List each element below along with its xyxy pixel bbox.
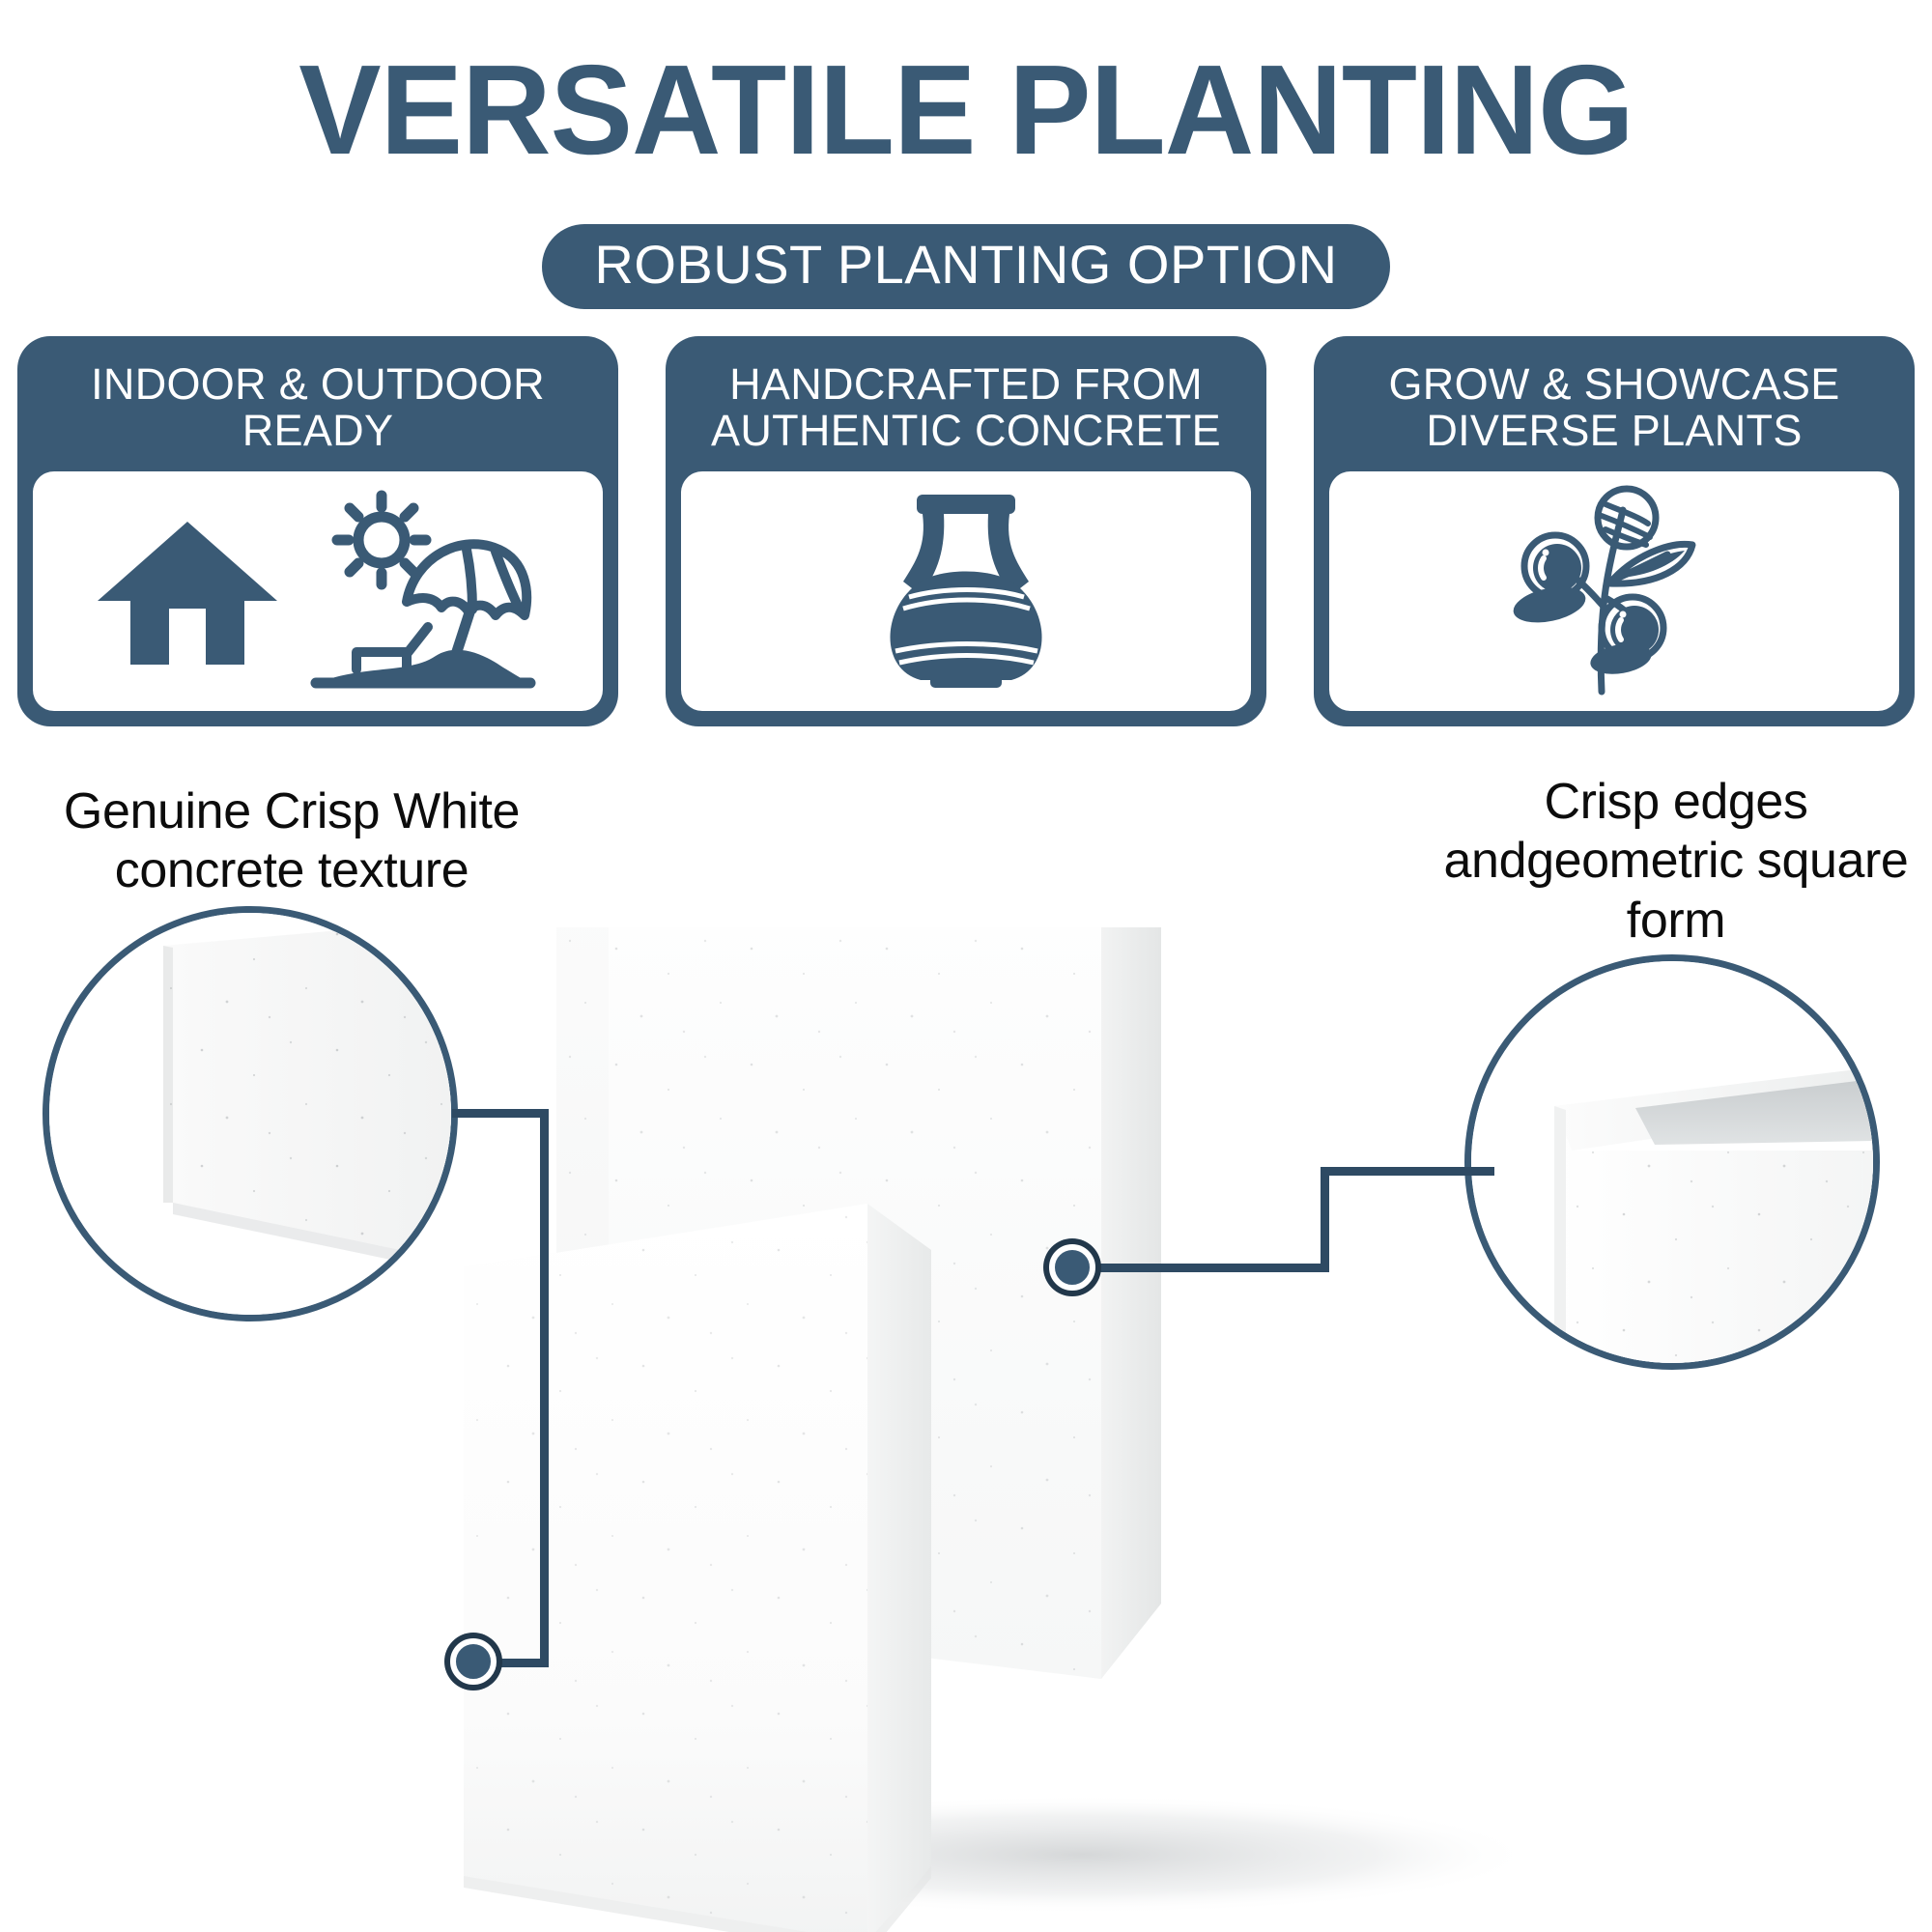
connector-left-segment-vertical xyxy=(540,1109,549,1667)
connector-right-segment-top xyxy=(1321,1167,1494,1176)
feature-card-row: INDOOR & OUTDOOR READY xyxy=(17,336,1915,726)
connector-right-segment-bottom xyxy=(1070,1264,1329,1272)
callout-label-left: Genuine Crisp White concrete texture xyxy=(21,782,562,901)
feature-card-title: HANDCRAFTED FROM AUTHENTIC CONCRETE xyxy=(681,355,1251,471)
short-front-planter xyxy=(464,1204,931,1932)
feature-card-icons xyxy=(681,471,1251,711)
product-photo xyxy=(464,927,1623,1932)
feature-card-icons xyxy=(1329,471,1899,711)
status-badge: ROBUST PLANTING OPTION xyxy=(542,224,1389,309)
feature-card-title: GROW & SHOWCASE DIVERSE PLANTS xyxy=(1329,355,1899,471)
vase-icon xyxy=(874,489,1058,694)
badge-row: ROBUST PLANTING OPTION xyxy=(0,224,1932,309)
feature-card-grow-showcase[interactable]: GROW & SHOWCASE DIVERSE PLANTS xyxy=(1314,336,1915,726)
house-icon xyxy=(98,514,277,668)
connector-left-segment-top xyxy=(452,1109,549,1118)
magnifier-crisp-edges xyxy=(1464,954,1880,1370)
feature-card-title: INDOOR & OUTDOOR READY xyxy=(33,355,603,471)
callout-marker-left[interactable] xyxy=(450,1638,497,1685)
page-title: VERSATILE PLANTING xyxy=(29,46,1903,174)
connector-right-segment-vertical xyxy=(1321,1167,1329,1271)
berry-plant-sprig-icon xyxy=(1513,485,1716,697)
magnifier-concrete-texture xyxy=(43,906,458,1321)
callout-marker-right[interactable] xyxy=(1049,1244,1095,1291)
feature-card-icons xyxy=(33,471,603,711)
callout-label-right: Crisp edges andgeometric square form xyxy=(1420,773,1932,951)
infographic-page: VERSATILE PLANTING ROBUST PLANTING OPTIO… xyxy=(0,0,1932,1932)
sun-beach-icon xyxy=(306,490,538,693)
feature-card-handcrafted-concrete[interactable]: HANDCRAFTED FROM AUTHENTIC CONCRETE xyxy=(666,336,1266,726)
feature-card-indoor-outdoor[interactable]: INDOOR & OUTDOOR READY xyxy=(17,336,618,726)
